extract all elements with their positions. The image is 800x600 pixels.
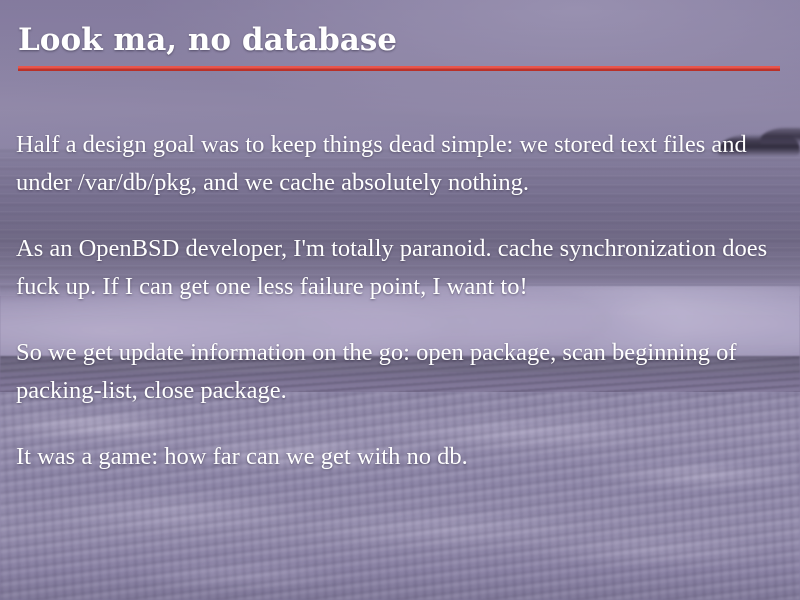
slide-paragraph: Half a design goal was to keep things de… (16, 126, 776, 202)
slide-body: Half a design goal was to keep things de… (16, 126, 776, 476)
presentation-slide: Look ma, no database Half a design goal … (0, 0, 800, 600)
title-underline-rule (18, 66, 780, 71)
slide-paragraph: So we get update information on the go: … (16, 334, 776, 410)
slide-paragraph: As an OpenBSD developer, I'm totally par… (16, 230, 776, 306)
slide-title: Look ma, no database (18, 22, 397, 58)
slide-content: Look ma, no database Half a design goal … (0, 0, 800, 600)
slide-paragraph: It was a game: how far can we get with n… (16, 438, 776, 476)
